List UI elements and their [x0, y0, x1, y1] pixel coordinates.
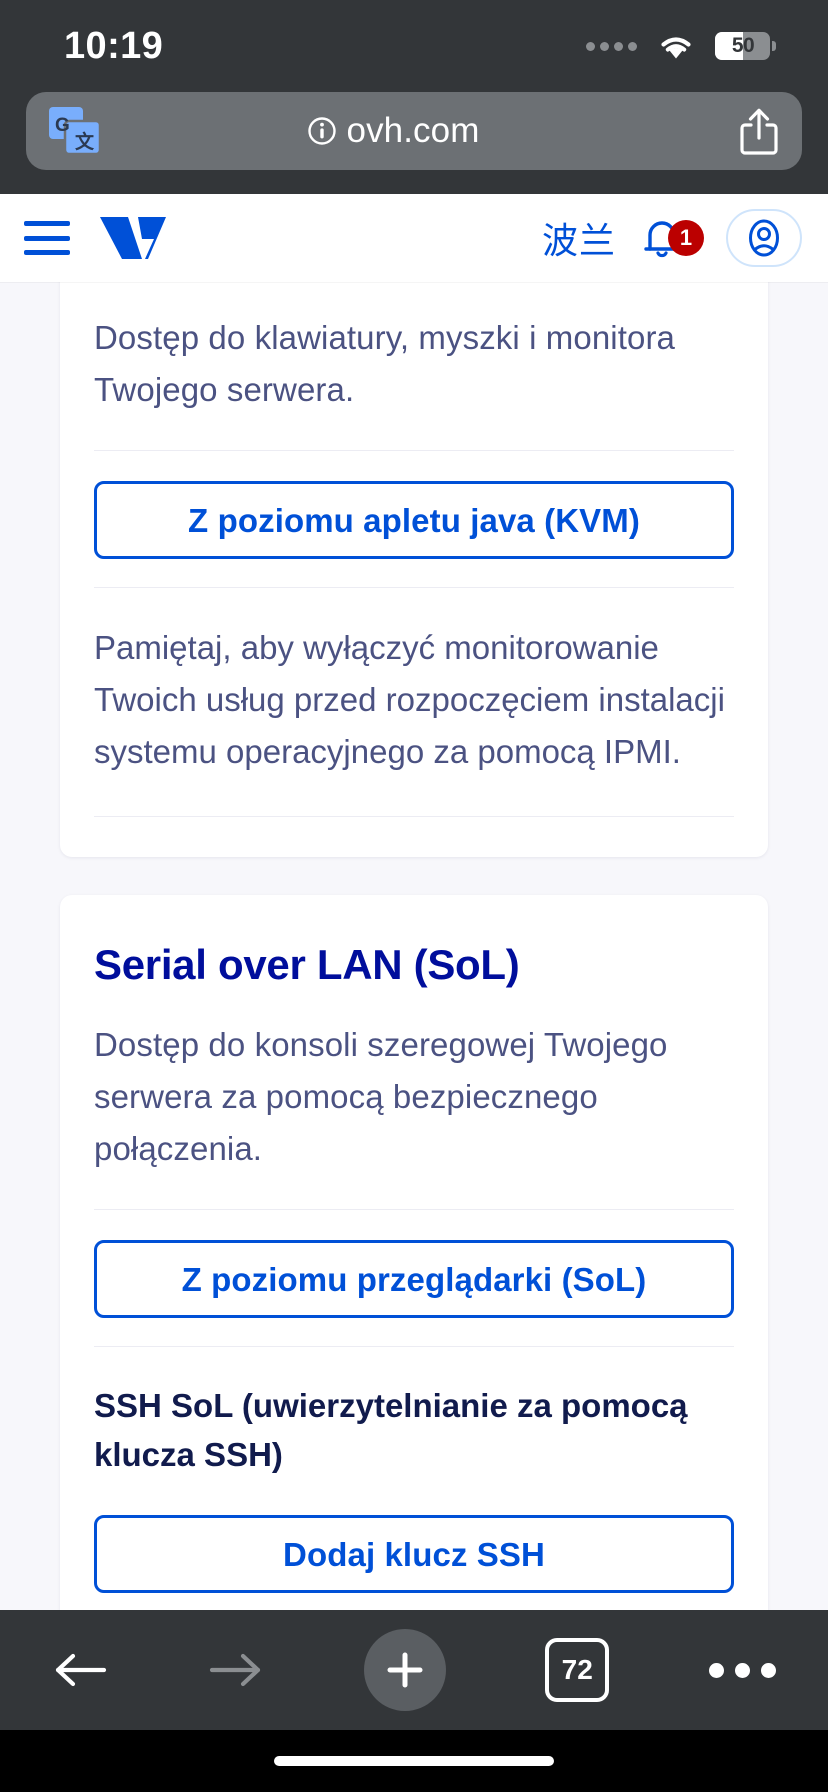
browser-sol-button[interactable]: Z poziomu przeglądarki (SoL): [94, 1240, 734, 1318]
tab-switcher-button[interactable]: 72: [545, 1638, 609, 1702]
kvm-card-footer-spacer: [94, 817, 734, 857]
page-content: Zdalny KVM Dostęp do klawiatury, myszki …: [0, 282, 828, 1610]
url-display[interactable]: ovh.com: [48, 111, 738, 151]
account-button[interactable]: [726, 209, 802, 267]
header-right-group: 波兰 1: [542, 209, 802, 267]
info-circle-icon: [307, 116, 337, 146]
new-tab-button[interactable]: [364, 1629, 446, 1711]
kvm-card: Zdalny KVM Dostęp do klawiatury, myszki …: [60, 282, 768, 857]
hamburger-menu-icon[interactable]: [24, 221, 70, 255]
ssh-button-row: Dodaj klucz SSH: [94, 1485, 734, 1610]
back-arrow-icon: [52, 1648, 108, 1692]
forward-arrow-icon: [208, 1648, 264, 1692]
phone-screen: 10:19 50 G 文: [0, 0, 828, 1792]
browser-bottom-toolbar: 72: [0, 1610, 828, 1730]
tab-count-label: 72: [562, 1654, 593, 1686]
status-bar-clock: 10:19: [64, 25, 163, 68]
sol-card-description: Dostęp do konsoli szeregowej Twojego ser…: [94, 989, 734, 1209]
sol-card-title: Serial over LAN (SoL): [94, 895, 734, 989]
language-selector[interactable]: 波兰: [542, 212, 616, 264]
plus-icon: [383, 1648, 427, 1692]
kvm-button-row: Z poziomu apletu java (KVM): [94, 451, 734, 587]
ssh-sol-heading: SSH SoL (uwierzytelnianie za pomocą kluc…: [94, 1347, 734, 1485]
url-text: ovh.com: [347, 111, 480, 151]
ovhcloud-logo-icon[interactable]: [98, 213, 202, 263]
signal-dots-icon: [586, 42, 637, 51]
kvm-ipmi-note: Pamiętaj, aby wyłączyć monitorowanie Two…: [94, 588, 734, 816]
header-left-group: [24, 213, 202, 263]
kvm-card-description: Dostęp do klawiatury, myszki i monitora …: [94, 282, 734, 450]
url-bar-container: G 文 ovh.com: [0, 92, 828, 194]
battery-percent-label: 50: [715, 32, 770, 60]
share-icon[interactable]: [738, 106, 780, 156]
user-account-icon: [746, 218, 782, 258]
home-indicator-area: [0, 1730, 828, 1792]
address-bar[interactable]: G 文 ovh.com: [26, 92, 802, 170]
back-button[interactable]: [52, 1648, 108, 1692]
more-options-icon[interactable]: [709, 1663, 776, 1678]
notifications-button[interactable]: 1: [636, 212, 688, 264]
browser-chrome: 10:19 50 G 文: [0, 0, 828, 194]
sol-button-row: Z poziomu przeglądarki (SoL): [94, 1210, 734, 1346]
serial-over-lan-card: Serial over LAN (SoL) Dostęp do konsoli …: [60, 895, 768, 1610]
wifi-icon: [656, 31, 696, 61]
add-ssh-key-button[interactable]: Dodaj klucz SSH: [94, 1515, 734, 1593]
java-applet-kvm-button[interactable]: Z poziomu apletu java (KVM): [94, 481, 734, 559]
status-bar: 10:19 50: [0, 0, 828, 92]
forward-button[interactable]: [208, 1648, 264, 1692]
site-header: 波兰 1: [0, 194, 828, 282]
home-indicator[interactable]: [274, 1756, 554, 1766]
status-bar-indicators: 50: [586, 31, 770, 61]
notification-badge-count: 1: [668, 220, 704, 256]
battery-icon: 50: [715, 32, 770, 60]
